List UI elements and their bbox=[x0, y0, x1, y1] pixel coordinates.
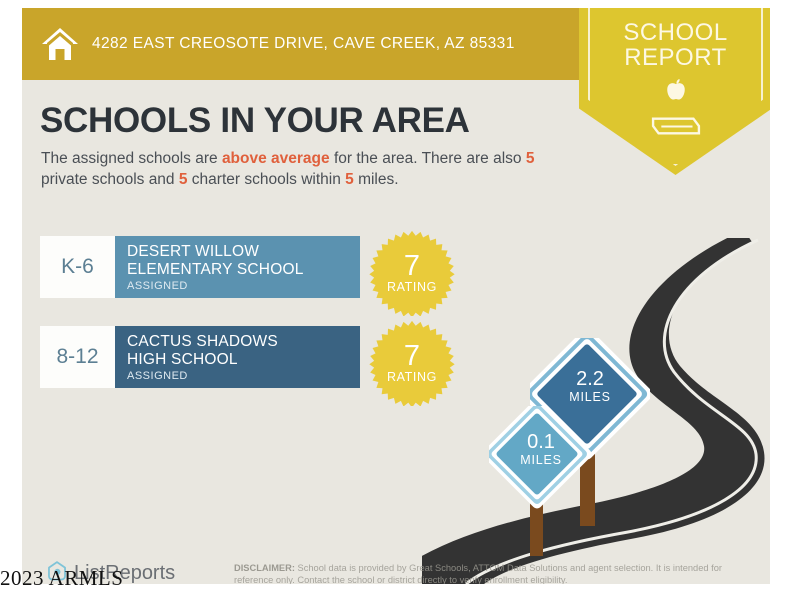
subtitle-highlight-private-count: 5 bbox=[526, 150, 535, 167]
subtitle-part-2: for the area. There are also bbox=[330, 150, 526, 167]
badge-icon-group bbox=[579, 78, 770, 142]
subtitle-highlight-radius: 5 bbox=[345, 171, 354, 188]
school-report-badge: SCHOOL REPORT bbox=[579, 8, 770, 175]
school-report-page: 4282 EAST CREOSOTE DRIVE, CAVE CREEK, AZ… bbox=[0, 0, 792, 612]
page-subtitle: The assigned schools are above average f… bbox=[41, 148, 571, 190]
subtitle-part-3: private schools and bbox=[41, 171, 179, 188]
grade-range-badge: 8-12 bbox=[40, 326, 115, 388]
mls-watermark: 2023 ARMLS bbox=[0, 566, 123, 591]
badge-title-line2: REPORT bbox=[579, 45, 770, 70]
school-name-line1: CACTUS SHADOWS bbox=[127, 333, 360, 351]
subtitle-highlight-rating: above average bbox=[222, 150, 330, 167]
subtitle-part-5: miles. bbox=[354, 171, 399, 188]
apple-icon bbox=[661, 78, 691, 113]
book-icon bbox=[650, 115, 702, 142]
disclaimer-text: DISCLAIMER: School data is provided by G… bbox=[234, 563, 746, 584]
distance-sign-elementary: 0.1 MILES bbox=[489, 406, 593, 561]
school-name-line2: HIGH SCHOOL bbox=[127, 351, 360, 369]
subtitle-part-4: charter schools within bbox=[187, 171, 345, 188]
subtitle-part-1: The assigned schools are bbox=[41, 150, 222, 167]
disclaimer-body: School data is provided by Great Schools… bbox=[234, 563, 722, 584]
page-title: SCHOOLS IN YOUR AREA bbox=[40, 101, 470, 141]
home-icon bbox=[40, 24, 80, 64]
address-header-bar: 4282 EAST CREOSOTE DRIVE, CAVE CREEK, AZ… bbox=[22, 8, 587, 80]
school-name-line2: ELEMENTARY SCHOOL bbox=[127, 261, 360, 279]
school-card-high[interactable]: 8-12 CACTUS SHADOWS HIGH SCHOOL ASSIGNED bbox=[40, 326, 360, 388]
school-card-elementary[interactable]: K-6 DESERT WILLOW ELEMENTARY SCHOOL ASSI… bbox=[40, 236, 360, 298]
school-info: DESERT WILLOW ELEMENTARY SCHOOL ASSIGNED bbox=[115, 236, 360, 298]
school-status: ASSIGNED bbox=[127, 370, 360, 382]
school-name-line1: DESERT WILLOW bbox=[127, 243, 360, 261]
report-canvas: 4282 EAST CREOSOTE DRIVE, CAVE CREEK, AZ… bbox=[22, 8, 770, 584]
badge-title: SCHOOL REPORT bbox=[579, 20, 770, 70]
grade-range-badge: K-6 bbox=[40, 236, 115, 298]
school-status: ASSIGNED bbox=[127, 280, 360, 292]
badge-title-line1: SCHOOL bbox=[579, 20, 770, 45]
school-info: CACTUS SHADOWS HIGH SCHOOL ASSIGNED bbox=[115, 326, 360, 388]
disclaimer-label: DISCLAIMER: bbox=[234, 563, 295, 573]
property-address: 4282 EAST CREOSOTE DRIVE, CAVE CREEK, AZ… bbox=[92, 35, 515, 53]
